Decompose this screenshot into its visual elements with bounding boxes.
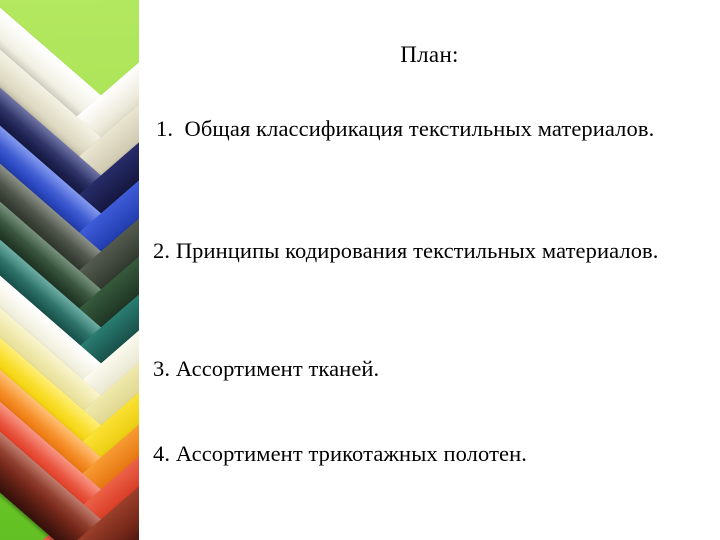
slide-content: План: 1. Общая классификация текстильных… [139, 0, 720, 540]
plan-list-item-2: 2. Принципы кодирования текстильных мате… [153, 236, 713, 266]
plan-item-1-text: Общая классификация текстильных материал… [185, 116, 655, 141]
plan-item-3-text: Ассортимент тканей. [176, 356, 379, 381]
plan-item-3-number: 3. [153, 356, 176, 381]
slide-canvas: План: 1. Общая классификация текстильных… [0, 0, 720, 540]
page-title: План: [139, 41, 720, 69]
plan-list-item-1: 1. Общая классификация текстильных матер… [156, 114, 720, 144]
plan-item-4-number: 4. [153, 441, 176, 466]
photo-clip-region [0, 0, 139, 540]
plan-item-1-number: 1. [156, 116, 185, 141]
plan-item-2-text: Принципы кодирования текстильных материа… [176, 238, 659, 263]
plan-item-2-number: 2. [153, 238, 176, 263]
fabric-stack-image [0, 0, 139, 540]
plan-item-4-text: Ассортимент трикотажных полотен. [176, 441, 527, 466]
plan-list-item-3: 3. Ассортимент тканей. [153, 354, 710, 384]
plan-list-item-4: 4. Ассортимент трикотажных полотен. [153, 439, 710, 469]
